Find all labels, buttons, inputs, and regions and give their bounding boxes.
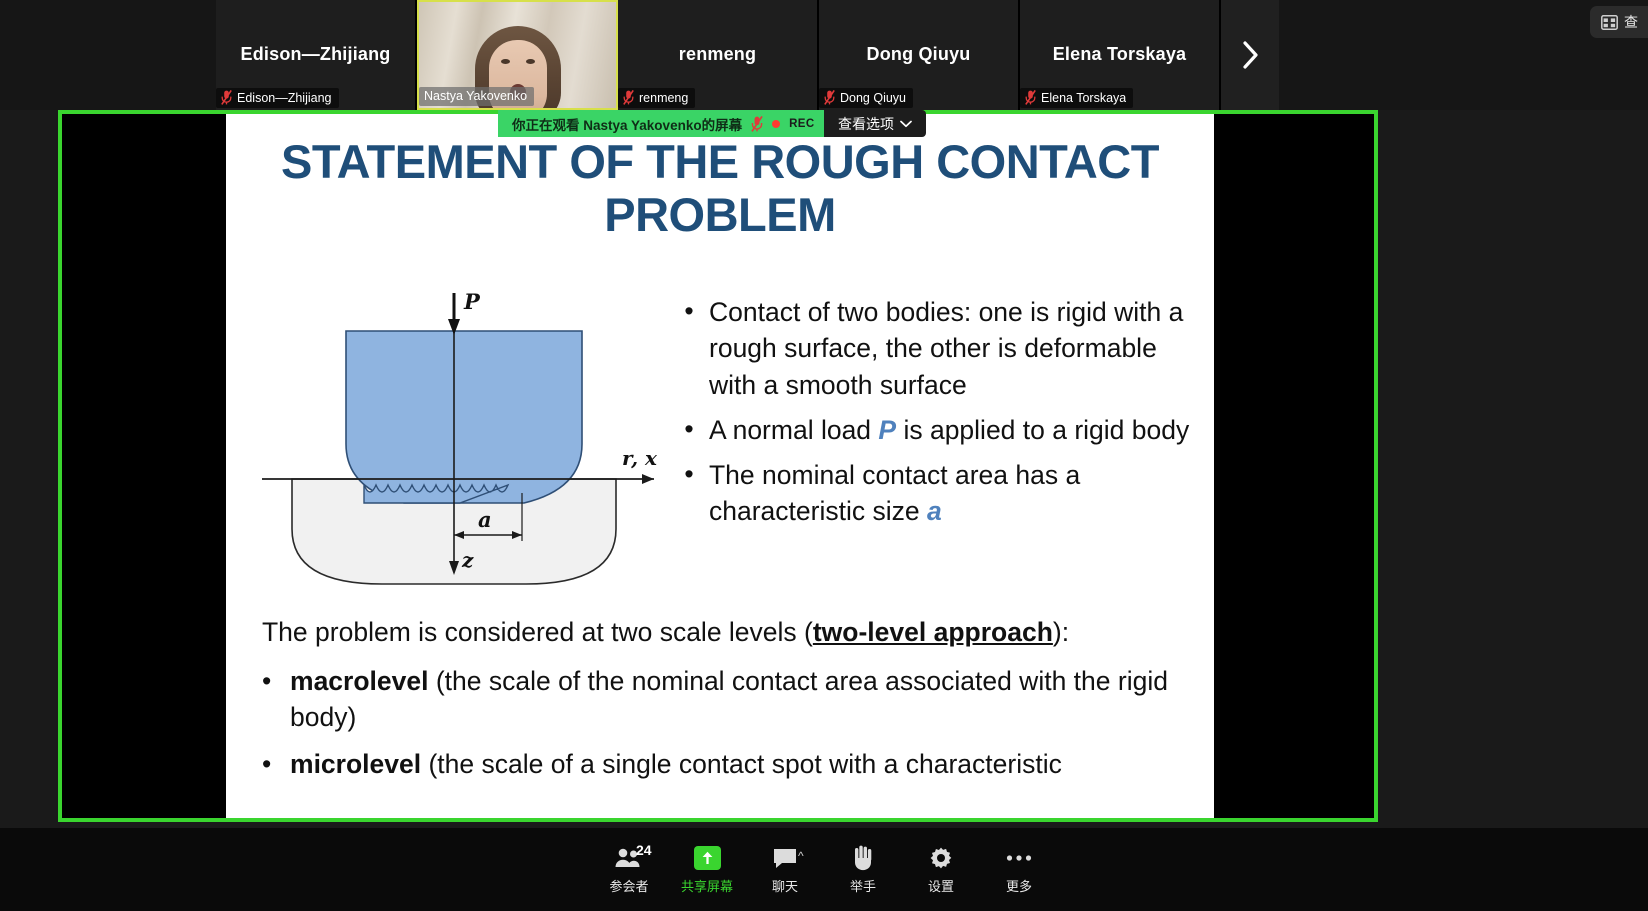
filmstrip-next-page-button[interactable]: [1221, 0, 1279, 110]
mic-muted-icon: [824, 90, 835, 105]
slide-bullet-2: • A normal load P is applied to a rigid …: [681, 412, 1191, 448]
participant-badge-name: Nastya Yakovenko: [424, 89, 527, 103]
participants-count: 24: [636, 842, 652, 858]
lower-bullet-text: microlevel (the scale of a single contac…: [290, 746, 1062, 782]
toolbar-share-screen-label: 共享屏幕: [681, 876, 733, 895]
bullet-text-after: is applied to a rigid body: [896, 415, 1189, 445]
view-options-button[interactable]: 查看选项: [824, 110, 926, 137]
chat-caret-icon[interactable]: ^: [798, 849, 804, 863]
presentation-slide: STATEMENT OF THE ROUGH CONTACT PROBLEM r…: [226, 114, 1214, 818]
term-macrolevel: macrolevel: [290, 666, 428, 696]
participant-badge: renmeng: [618, 88, 695, 108]
toolbar-more-label: 更多: [1006, 876, 1032, 895]
webcam-eye-left: [501, 59, 510, 64]
participant-badge: Edison—Zhijiang: [216, 88, 339, 108]
mic-muted-icon: [221, 90, 232, 105]
toolbar-participants-label: 参会者: [609, 876, 648, 895]
participant-tiles: Edison—Zhijiang Edison—Zhijiang: [216, 0, 1221, 110]
participant-badge-name: Edison—Zhijiang: [237, 91, 332, 105]
view-layout-label: 查: [1624, 12, 1638, 32]
slide-bullet-1: • Contact of two bodies: one is rigid wi…: [681, 294, 1191, 403]
participant-tile-dong[interactable]: Dong Qiuyu Dong Qiuyu: [819, 0, 1020, 110]
rough-contact-diagram: r, x z P a: [254, 279, 674, 599]
slide-bullet-3: • The nominal contact area has a charact…: [681, 457, 1191, 530]
participant-name: Edison—Zhijiang: [235, 45, 397, 65]
toolbar-participants-button[interactable]: 24 参会者: [590, 845, 668, 895]
participant-badge: Elena Torskaya: [1020, 88, 1133, 108]
participant-badge-name: renmeng: [639, 91, 688, 105]
lower-bullet-macrolevel: • macrolevel (the scale of the nominal c…: [262, 663, 1192, 735]
bullet-text: Contact of two bodies: one is rigid with…: [709, 294, 1191, 403]
toolbar-settings-label: 设置: [928, 876, 954, 895]
view-options-label: 查看选项: [838, 114, 894, 134]
recording-label: REC: [789, 118, 814, 130]
gear-icon: [929, 845, 953, 871]
participant-name: renmeng: [673, 45, 762, 65]
meeting-toolbar: 24 参会者 共享屏幕 ^ 聊天: [0, 828, 1648, 911]
term-microlevel: microlevel: [290, 749, 421, 779]
raise-hand-icon: [851, 845, 875, 871]
mic-muted-icon: [1025, 90, 1036, 105]
slide-title: STATEMENT OF THE ROUGH CONTACT PROBLEM: [256, 136, 1184, 241]
slide-bullet-list: • Contact of two bodies: one is rigid wi…: [681, 294, 1191, 539]
symbol-P: P: [878, 415, 896, 445]
view-layout-button[interactable]: 查: [1590, 6, 1648, 38]
more-dots-icon: [1006, 845, 1032, 871]
toolbar-chat-label: 聊天: [772, 876, 798, 895]
participant-tile-nastya[interactable]: Nastya Yakovenko: [417, 0, 618, 110]
bullet-text: A normal load P is applied to a rigid bo…: [709, 412, 1189, 448]
intro-after: ):: [1053, 617, 1069, 647]
toolbar-share-screen-button[interactable]: 共享屏幕: [668, 845, 746, 895]
participant-badge-name: Dong Qiuyu: [840, 91, 906, 105]
axis-label-rx: r, x: [622, 446, 658, 470]
bullet-text-before: The nominal contact area has a character…: [709, 460, 1080, 526]
bullet-marker: •: [681, 412, 697, 448]
toolbar-raise-hand-button[interactable]: 举手: [824, 845, 902, 895]
participant-badge: Nastya Yakovenko: [419, 87, 534, 106]
mic-muted-icon: [623, 90, 634, 105]
participant-name: Elena Torskaya: [1047, 45, 1193, 65]
axis-label-z: z: [461, 548, 474, 572]
share-screen-icon: [694, 845, 721, 871]
recording-dot-icon: [772, 120, 780, 128]
grid-view-icon: [1601, 15, 1618, 30]
intro-before: The problem is considered at two scale l…: [262, 617, 813, 647]
microlevel-rest: (the scale of a single contact spot with…: [421, 749, 1062, 779]
bullet-marker: •: [262, 663, 274, 735]
chevron-down-icon: [900, 120, 912, 128]
two-level-intro: The problem is considered at two scale l…: [262, 614, 1192, 650]
participant-name: Dong Qiuyu: [861, 45, 977, 65]
chat-icon: [772, 845, 798, 871]
participant-filmstrip: Edison—Zhijiang Edison—Zhijiang: [0, 0, 1648, 110]
bullet-text-before: A normal load: [709, 415, 878, 445]
bullet-marker: •: [681, 294, 697, 403]
participant-badge-name: Elena Torskaya: [1041, 91, 1126, 105]
toolbar-settings-button[interactable]: 设置: [902, 845, 980, 895]
two-level-approach-emphasis: two-level approach: [813, 617, 1053, 647]
load-label-P: P: [463, 289, 481, 314]
screen-share-banner: 你正在观看 Nastya Yakovenko的屏幕 REC: [498, 110, 829, 137]
participant-tile-renmeng[interactable]: renmeng renmeng: [618, 0, 819, 110]
participant-tile-elena[interactable]: Elena Torskaya Elena Torskaya: [1020, 0, 1221, 110]
symbol-a: a: [927, 496, 942, 526]
dimension-label-a: a: [478, 507, 492, 532]
lower-bullet-text: macrolevel (the scale of the nominal con…: [290, 663, 1192, 735]
chevron-right-icon: [1239, 38, 1261, 72]
shared-screen-frame: STATEMENT OF THE ROUGH CONTACT PROBLEM r…: [58, 110, 1378, 822]
participant-tile-edison[interactable]: Edison—Zhijiang Edison—Zhijiang: [216, 0, 417, 110]
slide-lower-block: The problem is considered at two scale l…: [262, 614, 1192, 793]
share-banner-text: 你正在观看 Nastya Yakovenko的屏幕: [512, 114, 742, 134]
filmstrip-left-spacer: [0, 0, 216, 110]
mic-muted-icon: [751, 116, 763, 132]
participant-badge: Dong Qiuyu: [819, 88, 913, 108]
lower-bullet-microlevel: • microlevel (the scale of a single cont…: [262, 746, 1192, 782]
bullet-text: The nominal contact area has a character…: [709, 457, 1191, 530]
bullet-marker: •: [681, 457, 697, 530]
toolbar-chat-button[interactable]: ^ 聊天: [746, 845, 824, 895]
indenter-shape: [346, 331, 582, 503]
axis-arrow-r: [642, 474, 654, 484]
webcam-eye-right: [526, 59, 535, 64]
toolbar-raise-hand-label: 举手: [850, 876, 876, 895]
bullet-marker: •: [262, 746, 274, 782]
toolbar-more-button[interactable]: 更多: [980, 845, 1058, 895]
